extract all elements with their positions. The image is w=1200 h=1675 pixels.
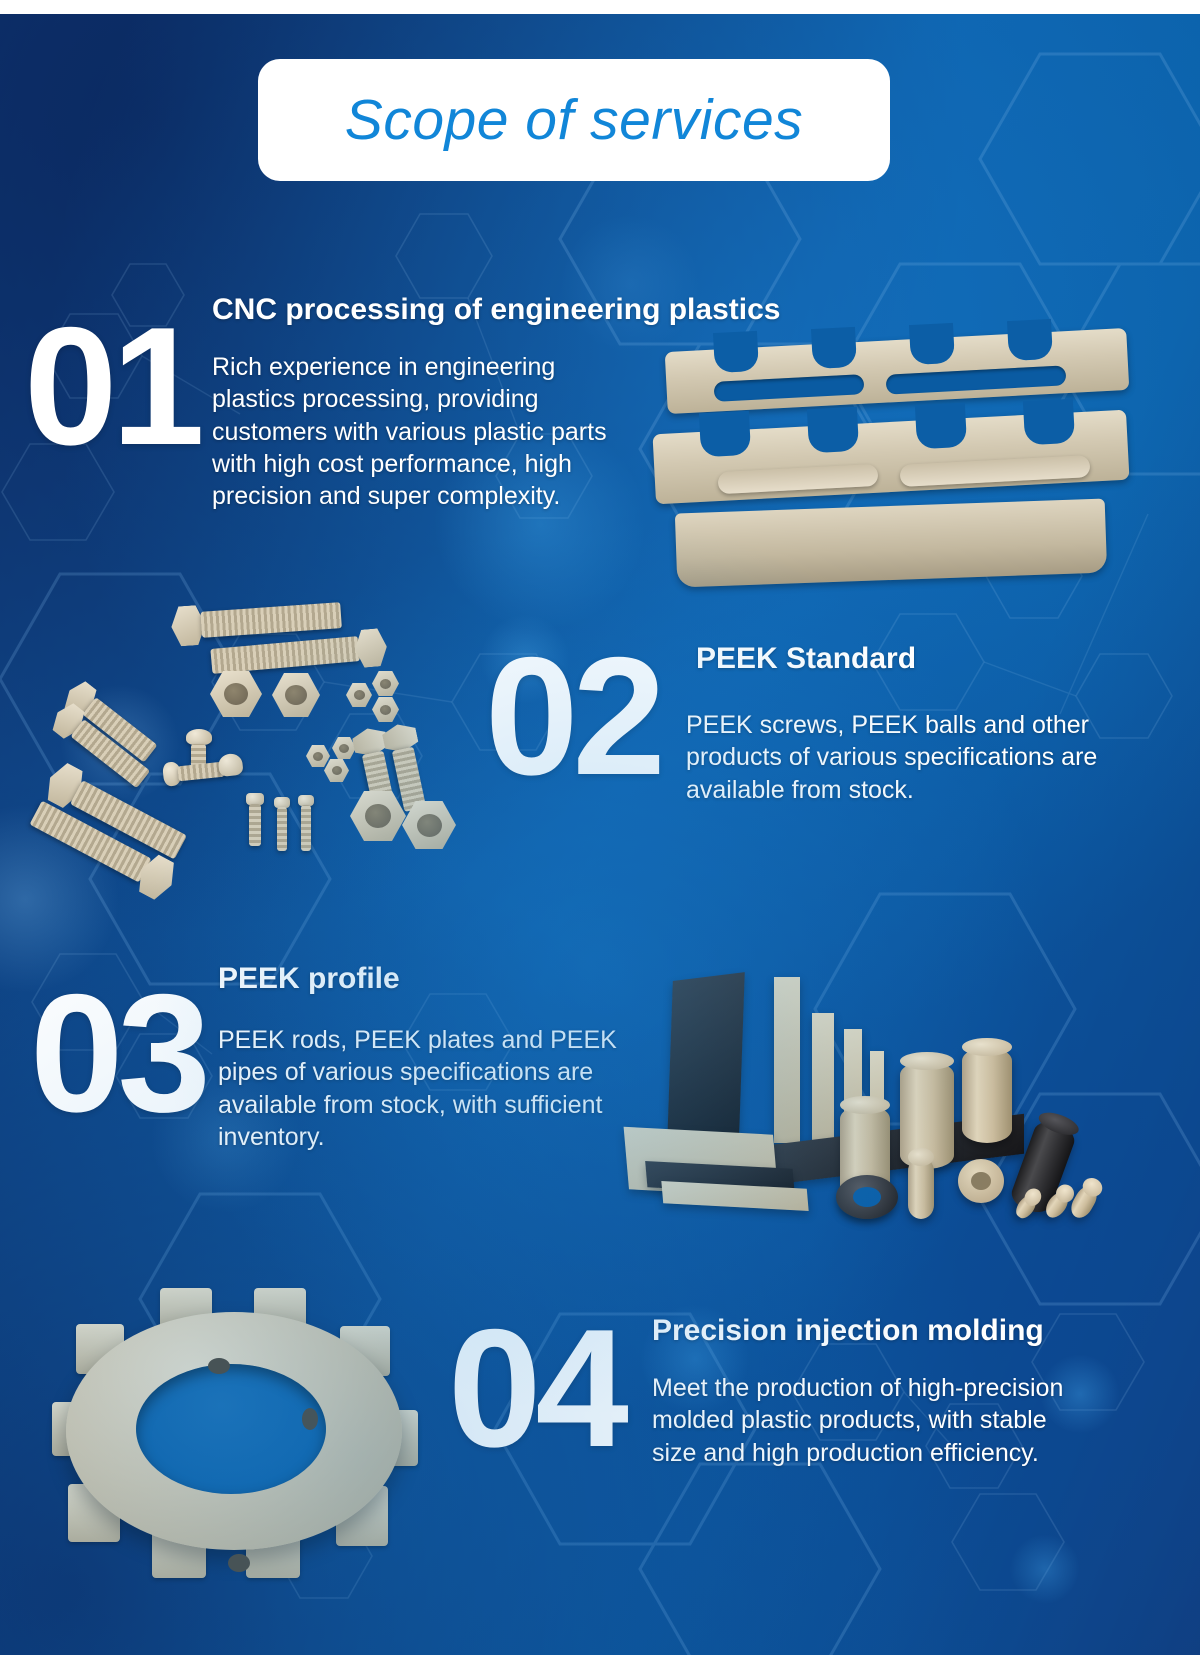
section-04-heading: Precision injection molding [652,1314,1044,1347]
blue-background-panel: Scope of services 01 CNC processing of e… [0,14,1200,1655]
section-04-body: Meet the production of high-precision mo… [652,1372,1082,1469]
infographic-page: Scope of services 01 CNC processing of e… [0,0,1200,1675]
section-04-number: 04 [448,1304,623,1472]
section-04: 04 Precision injection molding Meet the … [0,14,1200,1655]
